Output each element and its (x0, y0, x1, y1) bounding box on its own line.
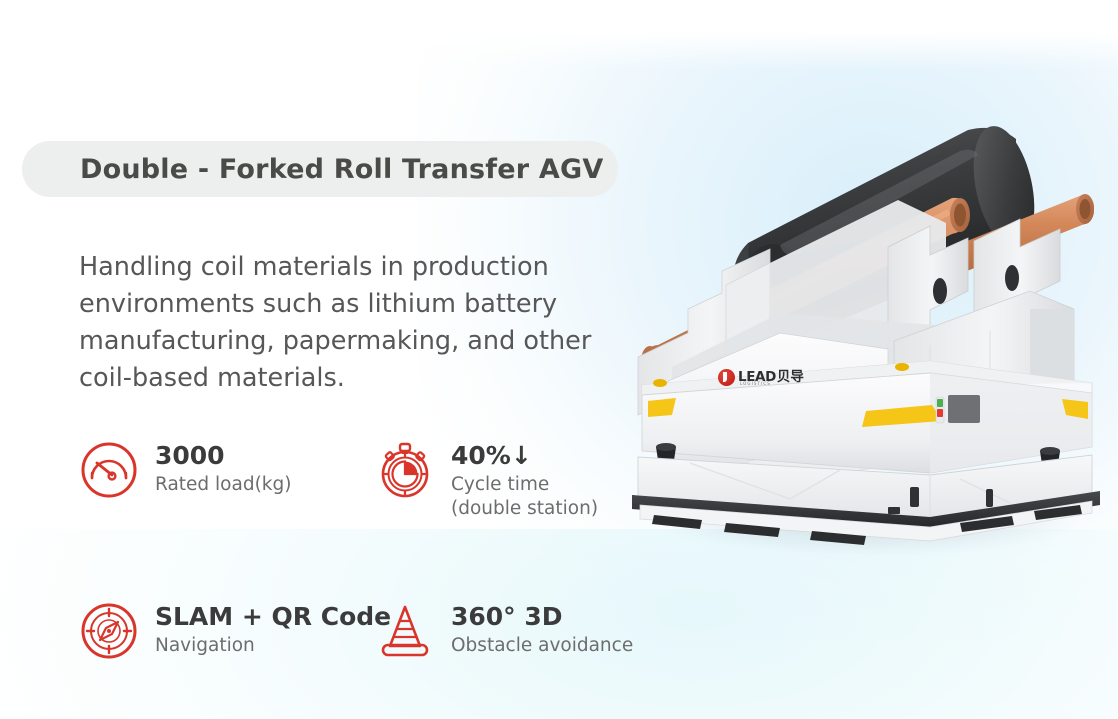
brand-subtitle: LOGISTICS (740, 381, 771, 386)
down-arrow-icon: ↓ (511, 441, 532, 470)
feature-navigation: SLAM + QR Code Navigation (79, 599, 375, 661)
feature-rated-load: 3000 Rated load(kg) (79, 438, 375, 521)
feature-text-block: 40%↓ Cycle time (double station) (451, 438, 598, 521)
page-title: Double - Forked Roll Transfer AGV (80, 154, 603, 185)
background-top-fade (0, 0, 1118, 70)
feature-label: Obstacle avoidance (451, 634, 633, 658)
feature-cycle-time: 40%↓ Cycle time (double station) (375, 438, 655, 521)
feature-label: Navigation (155, 634, 391, 658)
feature-label-secondary: (double station) (451, 497, 598, 521)
feature-obstacle-avoidance: 360° 3D Obstacle avoidance (375, 599, 655, 661)
feature-label: Rated load(kg) (155, 473, 291, 497)
feature-text-block: 360° 3D Obstacle avoidance (451, 599, 633, 658)
gauge-icon (79, 440, 139, 500)
title-pill: Double - Forked Roll Transfer AGV (22, 141, 618, 197)
feature-row-1: 3000 Rated load(kg) (79, 438, 659, 521)
compass-icon (79, 601, 139, 661)
feature-text-block: SLAM + QR Code Navigation (155, 599, 391, 658)
feature-value: 360° 3D (451, 602, 633, 631)
stopwatch-icon (375, 440, 435, 500)
feature-row-2: SLAM + QR Code Navigation 360° 3D (79, 599, 659, 661)
traffic-cone-icon (375, 601, 435, 661)
hazard-marker-left (648, 398, 676, 417)
feature-value: SLAM + QR Code (155, 602, 391, 631)
feature-value: 3000 (155, 441, 291, 470)
product-feature-slide: LEAD 贝导 LOGISTICS Double - Forked Roll T… (0, 0, 1118, 719)
feature-text-block: 3000 Rated load(kg) (155, 438, 291, 497)
product-image-agv (630, 95, 1110, 555)
feature-value-number: 40% (451, 441, 511, 470)
feature-value: 40%↓ (451, 441, 598, 470)
feature-label: Cycle time (451, 473, 598, 497)
brand-mark-icon (718, 369, 735, 386)
agv-brand-logo: LEAD 贝导 LOGISTICS (718, 369, 804, 386)
feature-spec-grid: 3000 Rated load(kg) (79, 438, 659, 661)
brand-wordmark-chinese: 贝导 (777, 371, 804, 384)
product-description: Handling coil materials in production en… (79, 249, 639, 397)
